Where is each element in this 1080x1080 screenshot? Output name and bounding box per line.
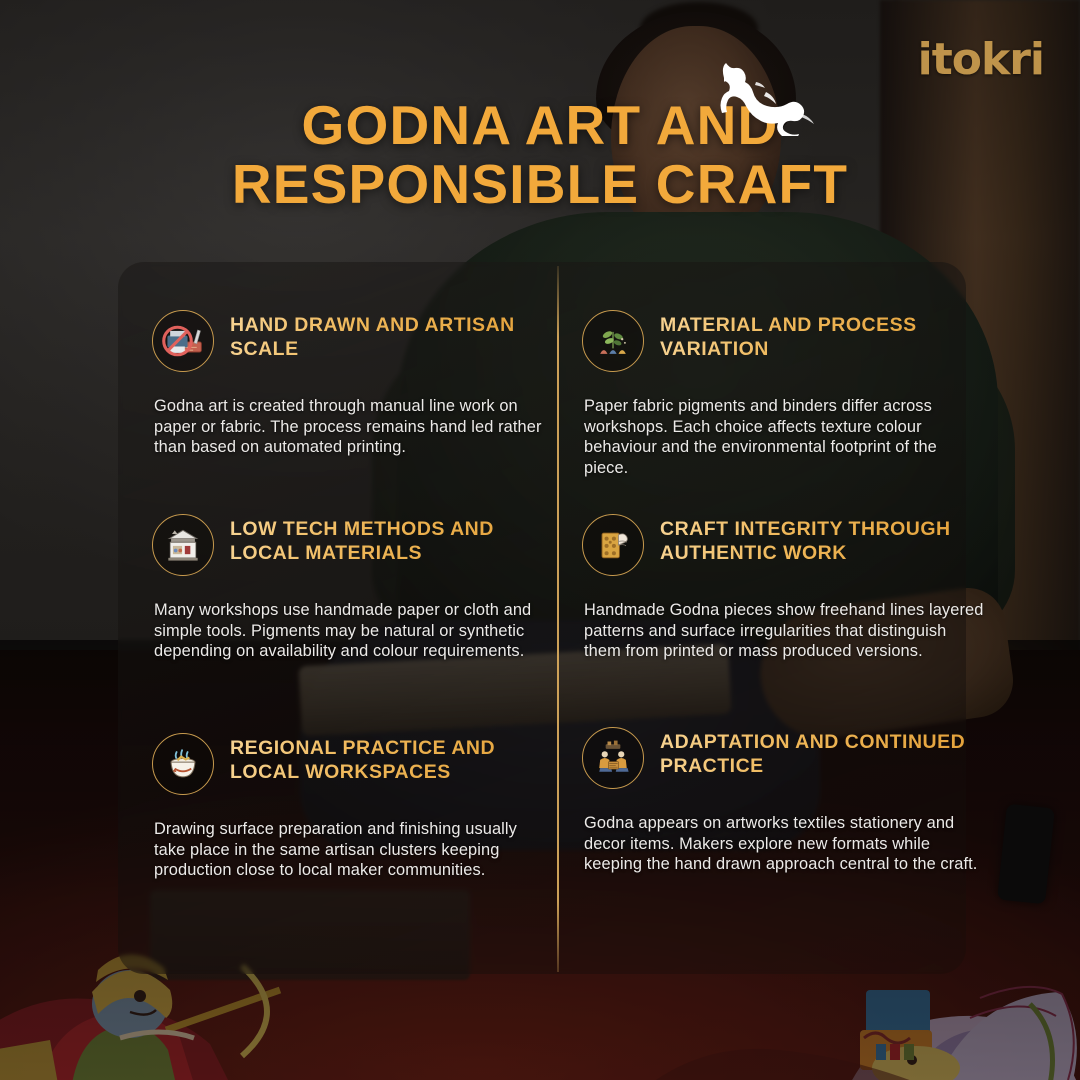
feature-title: REGIONAL PRACTICE AND LOCAL WORKSPACES [230,737,552,785]
feature-item-low-tech[interactable]: LOW TECH METHODS AND LOCAL MATERIALS Man… [152,514,552,662]
feature-item-craft-integrity[interactable]: CRAFT INTEGRITY THROUGH AUTHENTIC WORK H… [582,514,982,662]
workshop-building-icon [152,514,214,576]
feature-header: MATERIAL AND PROCESS VARIATION [582,310,982,372]
feature-item-regional-practice[interactable]: REGIONAL PRACTICE AND LOCAL WORKSPACES D… [152,733,552,881]
feature-body: Handmade Godna pieces show freehand line… [584,600,984,662]
feature-item-adaptation[interactable]: ADAPTATION AND CONTINUED PRACTICE Godna … [582,727,982,875]
feature-body: Godna art is created through manual line… [154,396,546,458]
page-title: GODNA ART AND RESPONSIBLE CRAFT [0,96,1080,215]
feature-title: CRAFT INTEGRITY THROUGH AUTHENTIC WORK [660,518,982,566]
feature-header: REGIONAL PRACTICE AND LOCAL WORKSPACES [152,733,552,795]
feature-title: ADAPTATION AND CONTINUED PRACTICE [660,731,982,779]
column-divider [557,266,559,972]
feature-title: LOW TECH METHODS AND LOCAL MATERIALS [230,518,552,566]
feature-item-material-variation[interactable]: MATERIAL AND PROCESS VARIATION Paper fab… [582,310,982,479]
feature-body: Godna appears on artworks textiles stati… [584,813,984,875]
feature-header: HAND DRAWN AND ARTISAN SCALE [152,310,552,372]
content-card: HAND DRAWN AND ARTISAN SCALE Godna art i… [118,262,966,974]
feature-body: Many workshops use handmade paper or clo… [154,600,546,662]
feature-body: Drawing surface preparation and finishin… [154,819,546,881]
feature-title: HAND DRAWN AND ARTISAN SCALE [230,314,552,362]
feature-title: MATERIAL AND PROCESS VARIATION [660,314,982,362]
two-artisans-working-icon [582,727,644,789]
page-title-line-1: GODNA ART AND [302,94,779,156]
steaming-dye-pot-icon [152,733,214,795]
page-title-line-2: RESPONSIBLE CRAFT [0,155,1080,214]
feature-header: ADAPTATION AND CONTINUED PRACTICE [582,727,982,789]
itokri-logo[interactable]: itokri [918,38,1044,82]
feature-item-hand-drawn[interactable]: HAND DRAWN AND ARTISAN SCALE Godna art i… [152,310,552,458]
plant-pigments-icon [582,310,644,372]
feature-header: CRAFT INTEGRITY THROUGH AUTHENTIC WORK [582,514,982,576]
feature-header: LOW TECH METHODS AND LOCAL MATERIALS [152,514,552,576]
hand-holding-patterned-textile-icon [582,514,644,576]
feature-body: Paper fabric pigments and binders differ… [584,396,984,479]
no-printing-icon [152,310,214,372]
